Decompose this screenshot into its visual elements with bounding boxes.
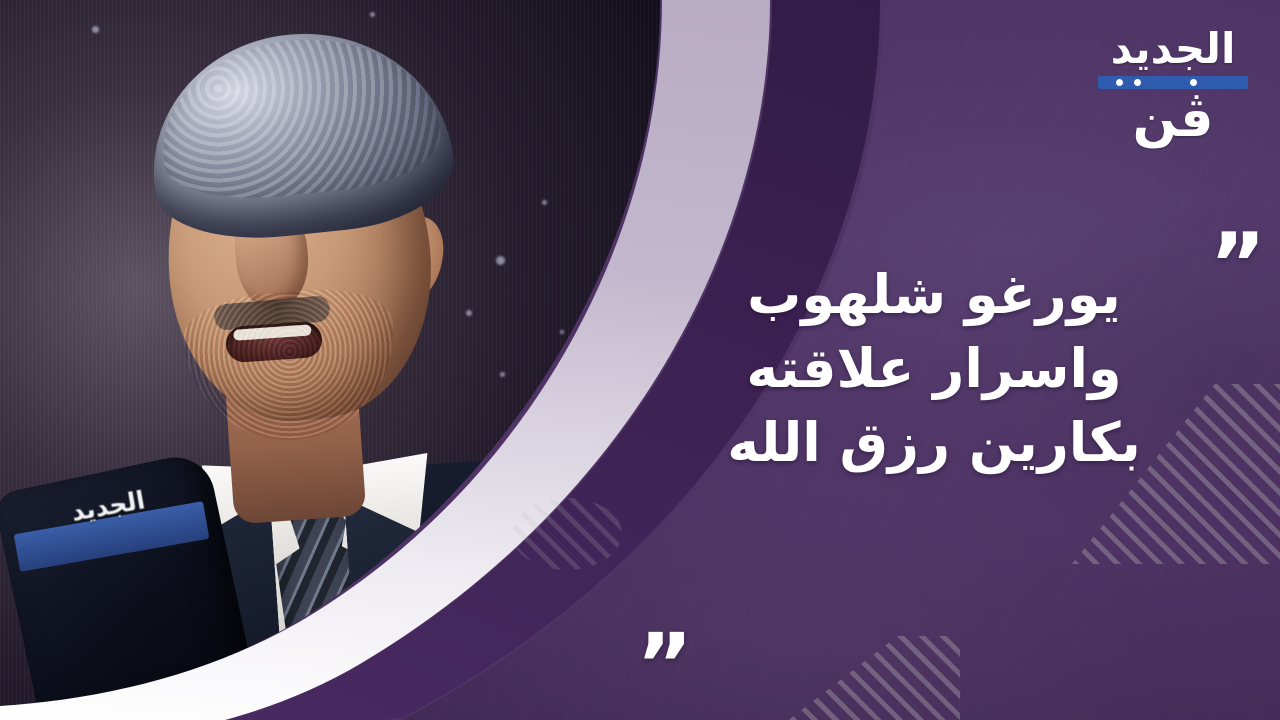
headline-text: يورغو شلهوب واسرار علاقته بكارين رزق الل… bbox=[614, 258, 1254, 480]
logo-dot-2 bbox=[1134, 79, 1141, 86]
stubble-beard bbox=[180, 283, 402, 449]
channel-logo-glyph: ڤن bbox=[1088, 91, 1258, 147]
news-thumbnail-canvas: الجديد الجديد ڤن ” يورغو شلهوب واسرار عل… bbox=[0, 0, 1280, 720]
channel-logo-bar bbox=[1098, 76, 1248, 89]
diagonal-stripes-oval bbox=[512, 498, 622, 570]
channel-logo[interactable]: الجديد ڤن bbox=[1088, 24, 1258, 156]
headline-line-3: بكارين رزق الله bbox=[614, 406, 1254, 480]
headline-line-2: واسرار علاقته bbox=[614, 332, 1254, 406]
logo-dot-1 bbox=[1116, 79, 1123, 86]
headline-line-1: يورغو شلهوب bbox=[614, 258, 1254, 332]
logo-dot-3 bbox=[1190, 79, 1197, 86]
channel-logo-wordmark: الجديد bbox=[1088, 24, 1258, 74]
quote-close-icon: „ bbox=[638, 576, 695, 662]
